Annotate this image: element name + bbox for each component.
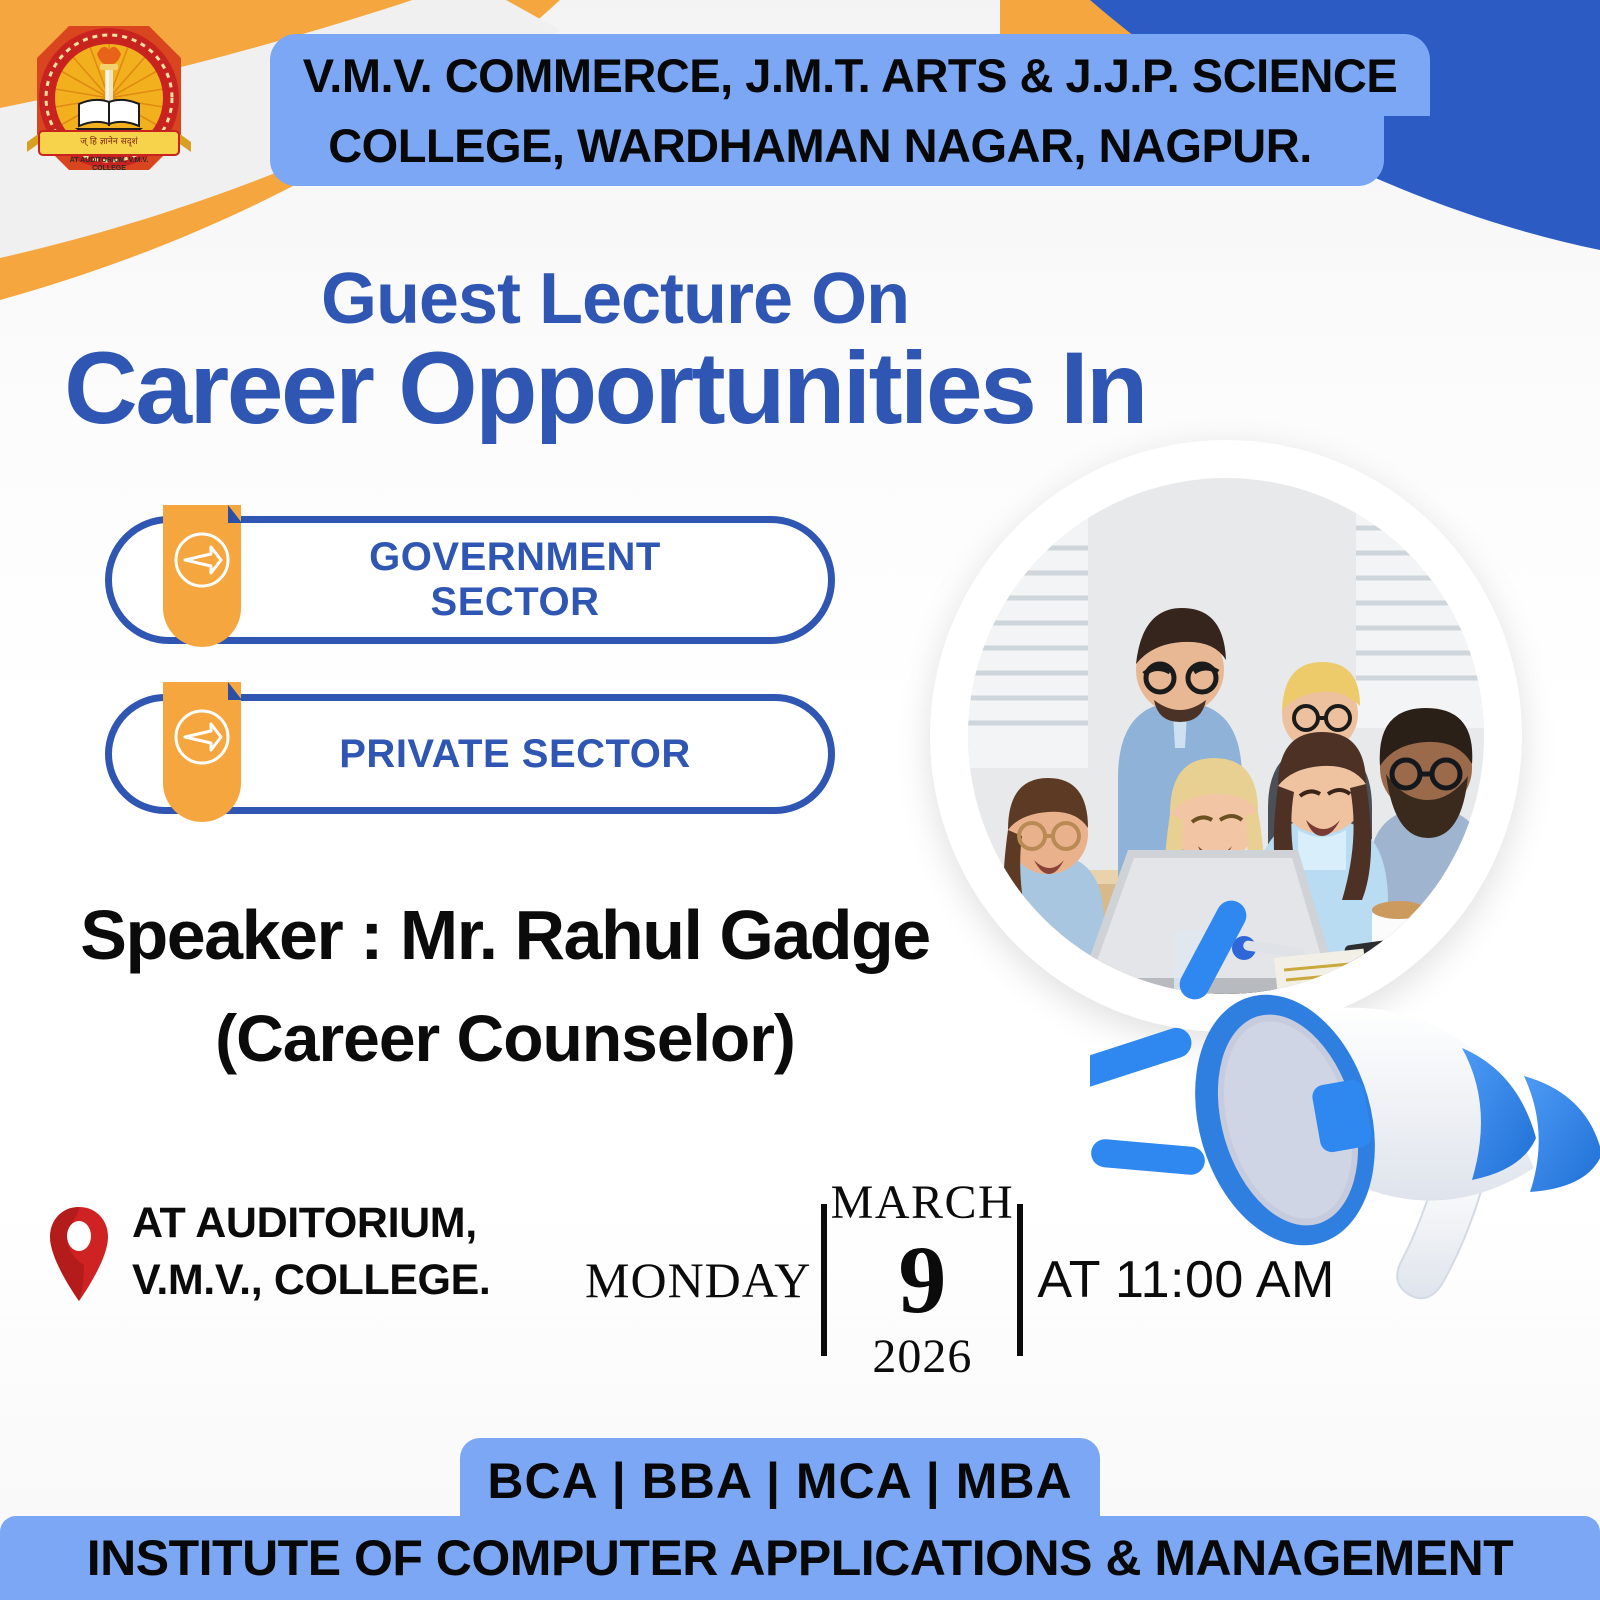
speaker-role: (Career Counselor) xyxy=(0,1000,1010,1076)
institute-name: INSTITUTE OF COMPUTER APPLICATIONS & MAN… xyxy=(87,1529,1513,1587)
courses-badge: BCA | BBA | MCA | MBA xyxy=(460,1438,1100,1524)
college-name-banner: V.M.V. COMMERCE, J.M.T. ARTS & J.J.P. SC… xyxy=(270,34,1430,186)
vmv-seal-icon: ज् हि ज्ञानेन सदृशं AT AUDITORIUM, V.M.V… xyxy=(18,14,200,190)
location-pin-icon xyxy=(48,1205,110,1303)
courses-list: BCA | BBA | MCA | MBA xyxy=(487,1452,1072,1510)
venue-address: AT AUDITORIUM, V.M.V., COLLEGE. xyxy=(132,1195,490,1309)
institute-footer-bar: INSTITUTE OF COMPUTER APPLICATIONS & MAN… xyxy=(0,1516,1600,1600)
svg-text:AT AUDITORIUM, V.M.V.: AT AUDITORIUM, V.M.V. xyxy=(70,157,149,164)
svg-text:ज् हि ज्ञानेन सदृशं: ज् हि ज्ञानेन सदृशं xyxy=(80,135,138,147)
college-logo: ज् हि ज्ञानेन सदृशं AT AUDITORIUM, V.M.V… xyxy=(18,14,200,190)
college-name-line2: COLLEGE, WARDHAMAN NAGAR, NAGPUR. xyxy=(328,118,1312,173)
event-month: MARCH xyxy=(831,1179,1015,1227)
poster-canvas: ज् हि ज्ञानेन सदृशं AT AUDITORIUM, V.M.V… xyxy=(0,0,1600,1600)
lecture-eyebrow: Guest Lecture On xyxy=(0,258,1230,340)
sector-label-government: GOVERNMENT SECTOR xyxy=(279,535,661,625)
event-day: 9 xyxy=(898,1227,946,1333)
megaphone-tail xyxy=(1524,1076,1600,1192)
page-title: Career Opportunities In xyxy=(0,330,1210,447)
event-time: AT 11:00 AM xyxy=(1023,1250,1334,1310)
sector-tag-government xyxy=(163,505,241,647)
government-line1: GOVERNMENT xyxy=(369,535,661,580)
svg-text:COLLEGE: COLLEGE xyxy=(92,165,126,172)
government-line2: SECTOR xyxy=(369,580,661,625)
tag-notch xyxy=(228,682,242,700)
sector-tag-private xyxy=(163,682,241,822)
banner-line-2-bg: COLLEGE, WARDHAMAN NAGAR, NAGPUR. xyxy=(270,104,1384,186)
event-date-core: MARCH 9 2026 xyxy=(827,1179,1017,1381)
tag-notch xyxy=(228,505,242,523)
event-year: 2026 xyxy=(872,1333,972,1381)
venue-block: AT AUDITORIUM, V.M.V., COLLEGE. xyxy=(48,1195,490,1309)
arrow-right-circle-icon xyxy=(171,529,233,591)
speaker-name: Speaker : Mr. Rahul Gadge xyxy=(0,895,1010,975)
event-day-of-week: MONDAY xyxy=(585,1251,821,1309)
arrow-right-circle-icon xyxy=(171,706,233,768)
college-name-line1: V.M.V. COMMERCE, J.M.T. ARTS & J.J.P. SC… xyxy=(303,48,1397,103)
venue-line2: V.M.V., COLLEGE. xyxy=(132,1252,490,1309)
sector-label-private: PRIVATE SECTOR xyxy=(249,732,691,777)
event-date-block: MONDAY MARCH 9 2026 AT 11:00 AM xyxy=(585,1180,1335,1380)
venue-line1: AT AUDITORIUM, xyxy=(132,1195,490,1252)
